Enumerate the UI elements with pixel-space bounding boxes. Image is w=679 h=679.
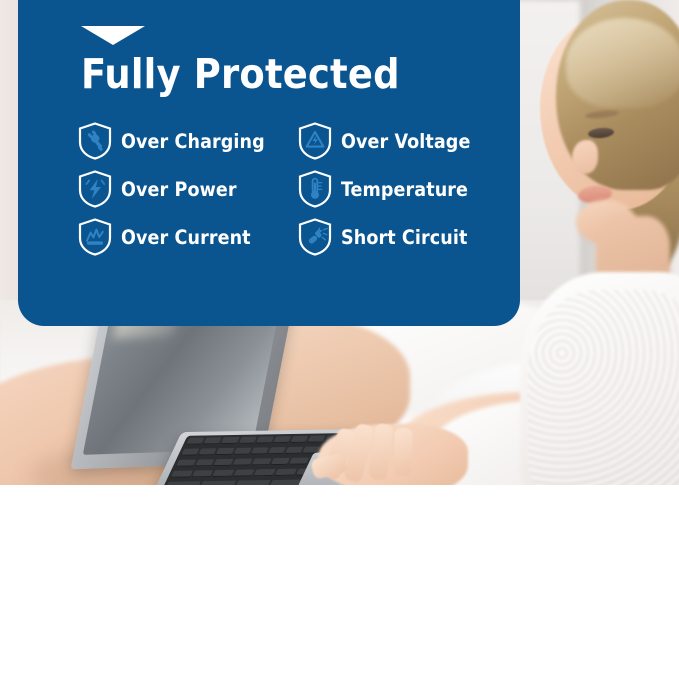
- nose: [572, 140, 598, 174]
- shield-lightning-bolt-icon: [78, 170, 112, 208]
- fully-protected-panel: Fully Protected: [18, 0, 520, 326]
- feature-temperature: Temperature: [298, 170, 518, 208]
- feature-over-voltage: Over Voltage: [298, 122, 518, 160]
- feature-label: Over Current: [121, 226, 251, 249]
- product-infographic: Fully Protected: [0, 0, 679, 679]
- feature-short-circuit: Short Circuit: [298, 218, 518, 256]
- bottom-banner: The ultimate travel adapter for your bus…: [0, 485, 679, 679]
- feature-label: Over Power: [121, 178, 237, 201]
- shield-voltage-triangle-icon: [298, 122, 332, 160]
- protection-feature-list: Over Charging Over Voltage: [78, 118, 518, 260]
- triangle-down-icon: [81, 26, 145, 45]
- shield-plug-icon: [78, 122, 112, 160]
- feature-label: Short Circuit: [341, 226, 467, 249]
- feature-over-current: Over Current: [78, 218, 298, 256]
- shield-thermometer-icon: [298, 170, 332, 208]
- page-title: Fully Protected: [81, 54, 400, 95]
- shield-short-circuit-icon: [298, 218, 332, 256]
- robe-texture: [528, 290, 679, 500]
- feature-label: Temperature: [341, 178, 468, 201]
- feature-label: Over Voltage: [341, 130, 470, 153]
- shield-surge-icon: [78, 218, 112, 256]
- hair-highlight: [566, 18, 679, 108]
- finger: [393, 428, 413, 477]
- feature-over-power: Over Power: [78, 170, 298, 208]
- feature-label: Over Charging: [121, 130, 265, 153]
- feature-over-charging: Over Charging: [78, 122, 298, 160]
